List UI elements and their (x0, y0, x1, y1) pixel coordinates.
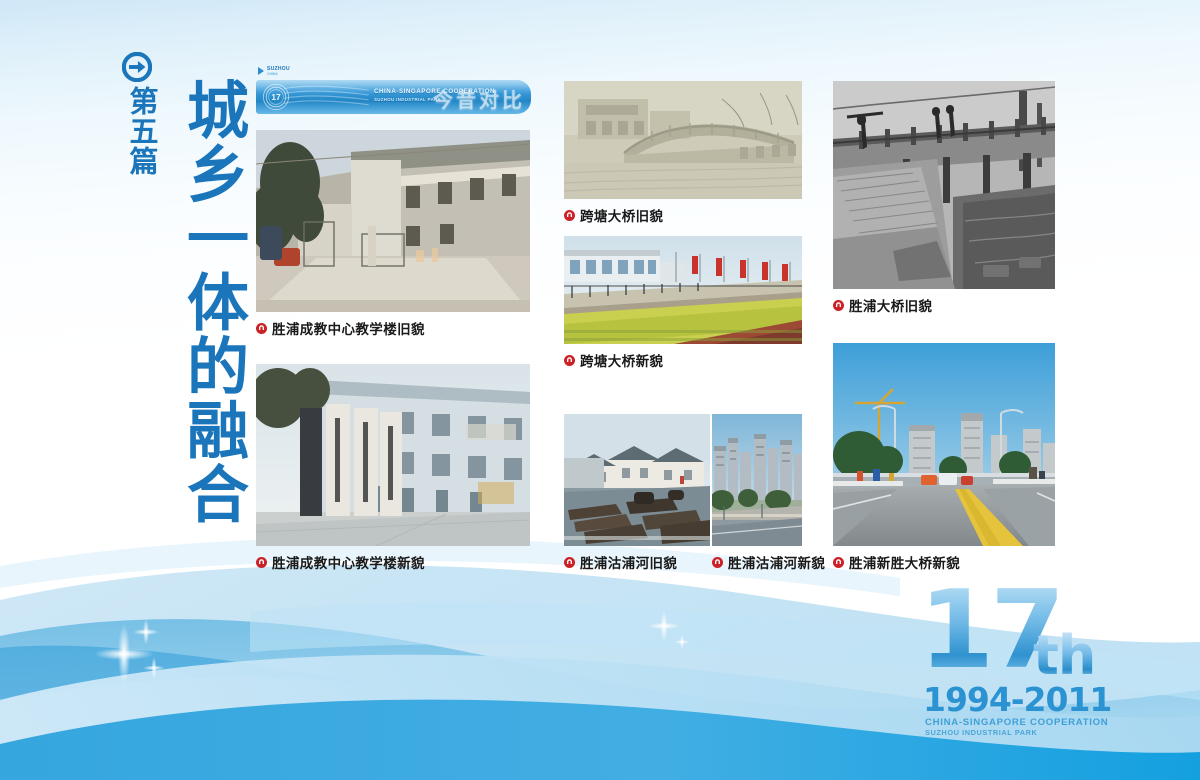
banner-brandmark: SUZHOU CHINA (258, 66, 290, 76)
caption-text: 胜浦大桥旧貌 (849, 295, 932, 315)
red-pin-icon (712, 557, 723, 568)
play-triangle-icon (258, 67, 264, 75)
banner-bar: 17 CHINA-SINGAPORE COOPERATION SUZHOU IN… (256, 80, 531, 114)
caption-text: 跨塘大桥新貌 (580, 350, 663, 370)
banner-headline: 今昔对比 (433, 84, 525, 113)
figure-gupu-river-old: 胜浦沽浦河旧貌 (564, 414, 710, 546)
photo-kuatang-bridge-new (564, 236, 802, 344)
caption-kuatang-bridge-new: 跨塘大桥新貌 (564, 350, 663, 370)
figure-kuatang-bridge-old: 跨塘大桥旧貌 (564, 81, 802, 199)
caption-text: 胜浦成教中心教学楼旧貌 (272, 318, 425, 338)
anniversary-suffix: th (1033, 629, 1095, 683)
red-pin-icon (256, 557, 267, 568)
caption-text: 胜浦沽浦河旧貌 (580, 552, 677, 572)
photo-shengpu-school-new (256, 364, 530, 546)
anniversary-years: 1994-2011 (923, 683, 1111, 716)
caption-text: 胜浦沽浦河新貌 (728, 552, 825, 572)
figure-kuatang-bridge-new: 跨塘大桥新貌 (564, 236, 802, 344)
chapter-title-block: 第五篇 城乡一体的融合 (108, 48, 248, 568)
photo-shengpu-school-old (256, 130, 530, 312)
banner-brand-cn: CHINA (267, 72, 290, 76)
photo-gupu-river-new (712, 414, 802, 546)
anniversary-org-line1: CHINA-SINGAPORE COOPERATION (925, 717, 1108, 728)
photo-shengpu-new-bridge (833, 343, 1055, 546)
section-banner: SUZHOU CHINA 17 CHINA-SINGAPORE CO (256, 66, 531, 116)
figure-shengpu-bridge-old: 胜浦大桥旧貌 (833, 81, 1055, 289)
figure-gupu-river-new: 胜浦沽浦河新貌 (712, 414, 802, 546)
caption-gupu-river-new: 胜浦沽浦河新貌 (712, 552, 825, 572)
anniversary-org-line2: SUZHOU INDUSTRIAL PARK (925, 728, 1037, 737)
caption-kuatang-bridge-old: 跨塘大桥旧貌 (564, 205, 663, 225)
caption-text: 胜浦成教中心教学楼新貌 (272, 552, 425, 572)
red-pin-icon (833, 300, 844, 311)
caption-gupu-river-old: 胜浦沽浦河旧貌 (564, 552, 677, 572)
svg-text:17: 17 (271, 92, 281, 102)
caption-shengpu-school-new: 胜浦成教中心教学楼新貌 (256, 552, 425, 572)
photo-shengpu-bridge-old (833, 81, 1055, 289)
caption-shengpu-bridge-old: 胜浦大桥旧貌 (833, 295, 932, 315)
caption-shengpu-school-old: 胜浦成教中心教学楼旧貌 (256, 318, 425, 338)
photo-gupu-river-old (564, 414, 710, 546)
figure-shengpu-school-old: 胜浦成教中心教学楼旧貌 (256, 130, 530, 312)
red-pin-icon (256, 323, 267, 334)
red-pin-icon (564, 557, 575, 568)
figure-shengpu-school-new: 胜浦成教中心教学楼新貌 (256, 364, 530, 546)
banner-streak-decoration (284, 83, 370, 111)
photo-kuatang-bridge-old (564, 81, 802, 199)
page-title: 城乡一体的融合 (148, 78, 244, 526)
poster-page: 第五篇 城乡一体的融合 SUZHOU CHINA 17 (0, 0, 1200, 780)
anniversary-logo: 17 th 1994-2011 CHINA-SINGAPORE COOPERAT… (915, 583, 1130, 743)
figure-shengpu-new-bridge: 胜浦新胜大桥新貌 (833, 343, 1055, 546)
red-pin-icon (833, 557, 844, 568)
red-pin-icon (564, 355, 575, 366)
caption-text: 跨塘大桥旧貌 (580, 205, 663, 225)
red-pin-icon (564, 210, 575, 221)
banner-org-line1: CHINA-SINGAPORE COOPERATION (374, 88, 495, 95)
